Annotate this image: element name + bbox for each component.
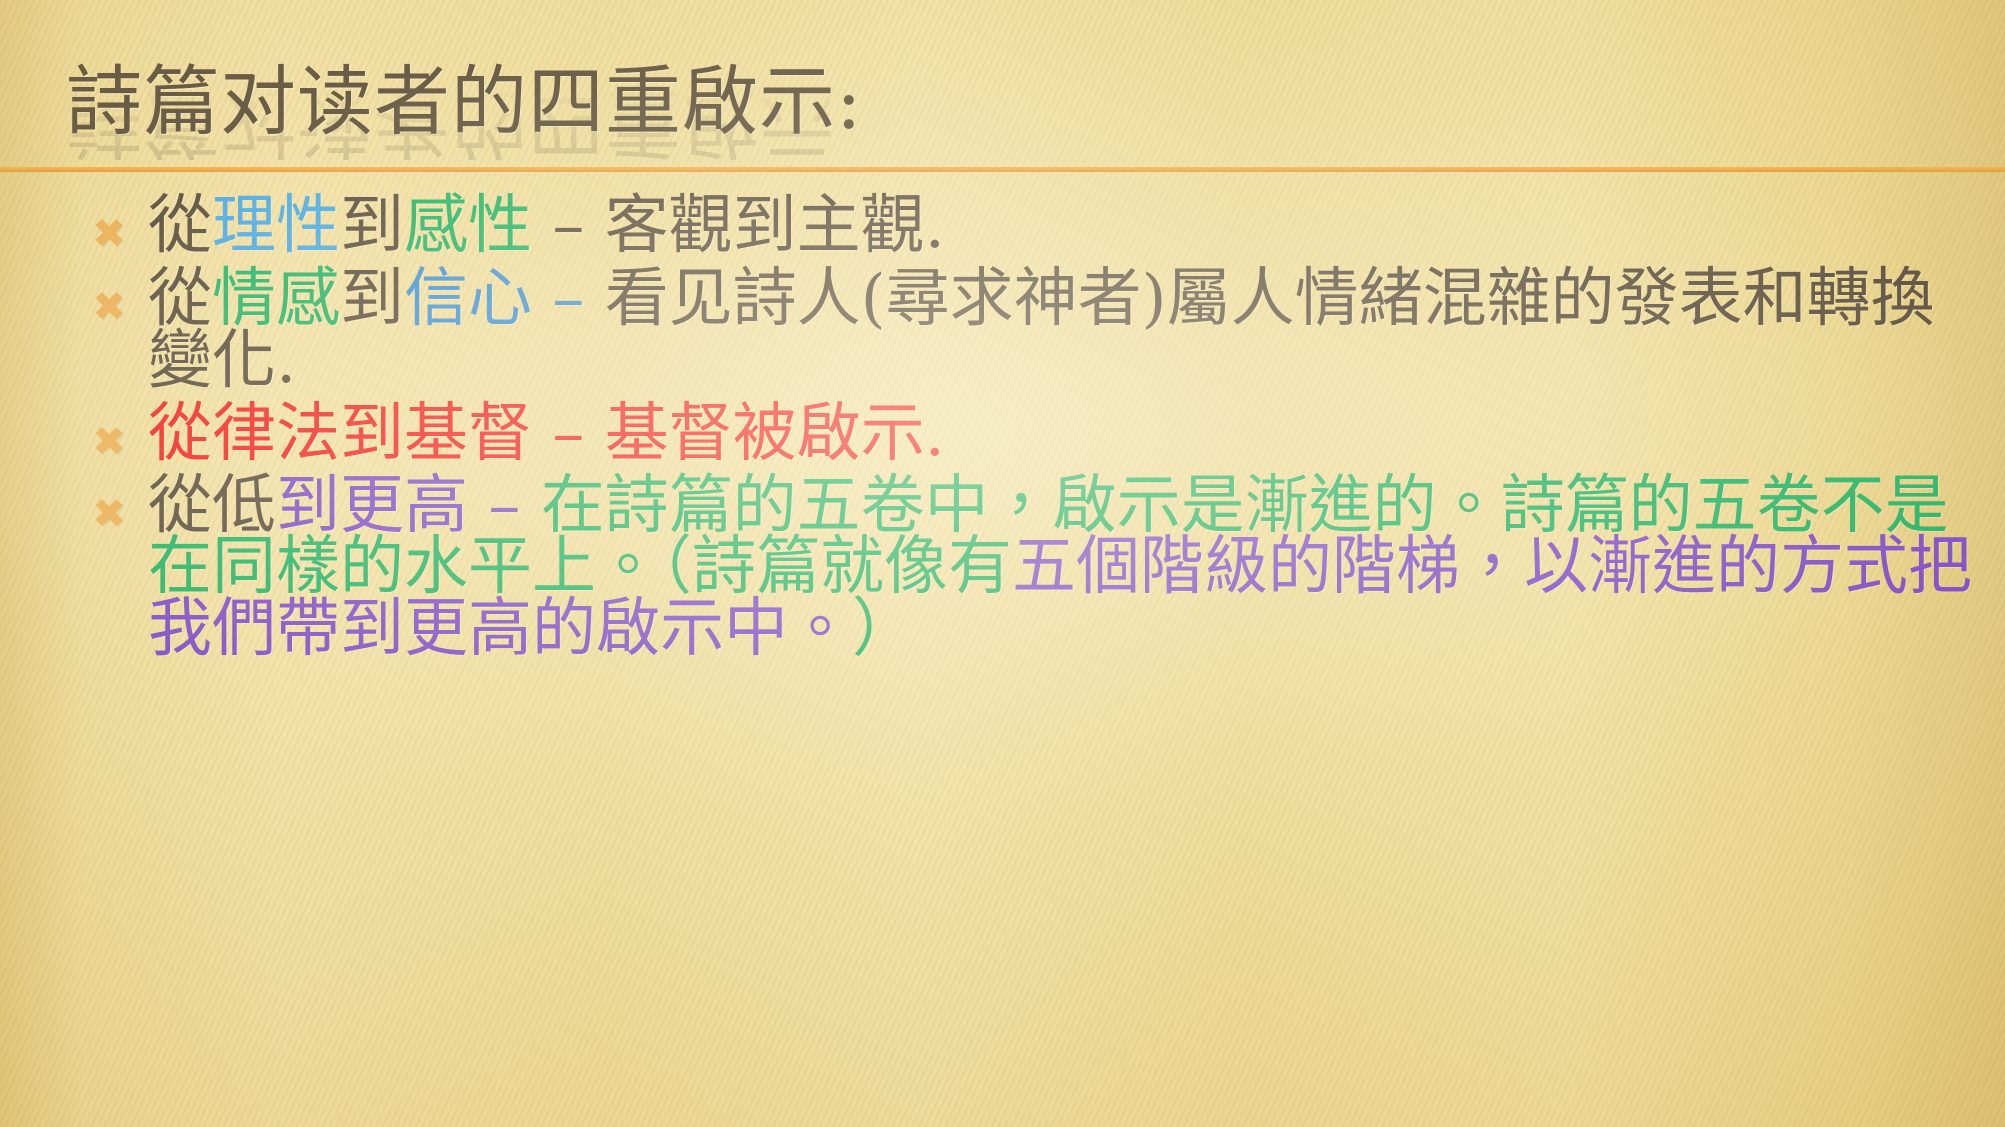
text-run: 到 xyxy=(340,262,404,336)
text-run-dash: – xyxy=(532,262,605,336)
title-underline-rule xyxy=(0,167,2005,172)
text-run-highlight-blue: 信心 xyxy=(404,262,532,336)
list-item: ✖ 從低到更高 – 在詩篇的五卷中，啟示是漸進的。詩篇的五卷不是在同樣的水平上。… xyxy=(78,476,1983,660)
bullet-list: ✖ 從理性到感性 – 客觀到主觀. ✖ 從情感到信心 – 看见詩人(尋求神者)屬… xyxy=(78,196,1983,660)
slide-canvas: 詩篇对读者的四重啟示: 詩篇对读者的四重啟示: ✖ 從理性到感性 – 客觀到主觀… xyxy=(0,0,2005,1127)
bullet-marker-icon: ✖ xyxy=(86,494,132,534)
text-run-highlight-red: 從律法到基督 – xyxy=(148,397,605,471)
list-item: ✖ 從理性到感性 – 客觀到主觀. xyxy=(78,196,1983,257)
bullet-marker-icon: ✖ xyxy=(86,422,132,462)
bullet-marker-icon: ✖ xyxy=(86,287,132,327)
text-run-highlight-purple: 的啟示中。 xyxy=(532,592,852,666)
list-item-text: 從理性到感性 – 客觀到主觀. xyxy=(148,196,1983,257)
text-run: 客觀到主觀. xyxy=(605,189,945,263)
list-item: ✖ 從情感到信心 – 看见詩人(尋求神者)屬人情緒混雜的發表和轉換變化. xyxy=(78,269,1983,392)
text-run-dash: – xyxy=(532,189,605,263)
list-item: ✖ 從律法到基督 – 基督被啟示. xyxy=(78,404,1983,465)
list-item-text: 從低到更高 – 在詩篇的五卷中，啟示是漸進的。詩篇的五卷不是在同樣的水平上。（詩… xyxy=(148,476,1983,660)
text-run-highlight-blue: 理性 xyxy=(212,189,340,263)
text-run: 到 xyxy=(340,189,404,263)
text-run-highlight-green: ） xyxy=(852,592,916,666)
page-title: 詩篇对读者的四重啟示: xyxy=(66,64,863,140)
text-run-highlight-red: 基督被啟示. xyxy=(605,397,945,471)
title-block: 詩篇对读者的四重啟示: 詩篇对读者的四重啟示: xyxy=(66,64,1966,184)
text-run-highlight-green: 感性 xyxy=(404,189,532,263)
list-item-text: 從律法到基督 – 基督被啟示. xyxy=(148,404,1983,465)
list-item-text: 從情感到信心 – 看见詩人(尋求神者)屬人情緒混雜的發表和轉換變化. xyxy=(148,269,1983,392)
text-run: 從 xyxy=(148,189,212,263)
bullet-marker-icon: ✖ xyxy=(86,214,132,254)
